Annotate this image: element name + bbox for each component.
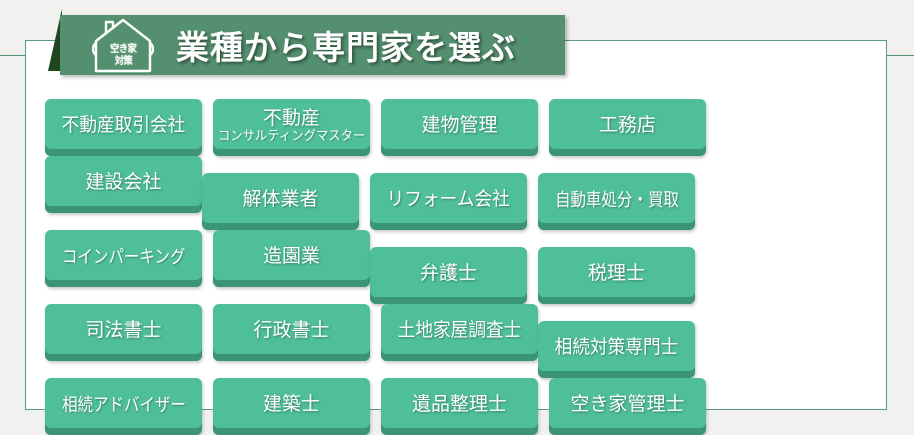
category-button-label: 建設会社 bbox=[85, 172, 161, 194]
category-button-label: 解体業者 bbox=[242, 189, 318, 211]
category-button-sublabel: コンサルティングマスター bbox=[218, 129, 365, 143]
category-button[interactable]: コインパーキング bbox=[45, 230, 202, 287]
category-button-label: 相続アドバイザー bbox=[62, 394, 186, 416]
category-button-label: 不動産 bbox=[263, 108, 320, 129]
category-button-label: 造園業 bbox=[263, 246, 320, 268]
category-button[interactable]: 相続対策専門士 bbox=[538, 321, 695, 378]
category-button[interactable]: 相続アドバイザー bbox=[45, 378, 202, 435]
category-button-label: 自動車処分・買取 bbox=[555, 189, 679, 211]
category-button[interactable]: 建物管理 bbox=[381, 99, 538, 156]
category-button-label: 空き家管理士 bbox=[570, 394, 684, 416]
category-button[interactable]: リフォーム会社 bbox=[370, 173, 527, 230]
category-button-label: 弁護士 bbox=[420, 263, 477, 285]
category-button[interactable]: 不動産コンサルティングマスター bbox=[213, 99, 370, 156]
category-button-label: リフォーム会社 bbox=[387, 189, 510, 211]
category-button-label: 土地家屋調査士 bbox=[398, 320, 522, 342]
category-button[interactable]: 建設会社 bbox=[45, 156, 202, 213]
category-button-label: 司法書士 bbox=[85, 320, 161, 342]
page-root: 空き家 対策 業種から専門家を選ぶ 不動産取引会社不動産コンサルティングマスター… bbox=[0, 0, 914, 430]
category-button[interactable]: 行政書士 bbox=[213, 304, 370, 361]
category-button-label: 建物管理 bbox=[421, 115, 497, 137]
category-button-label: コインパーキング bbox=[62, 246, 185, 268]
category-button-label: 相続対策専門士 bbox=[555, 337, 679, 359]
page-title: 業種から専門家を選ぶ bbox=[176, 21, 516, 69]
category-button[interactable]: 弁護士 bbox=[370, 247, 527, 304]
category-button-label: 税理士 bbox=[588, 263, 645, 285]
category-button[interactable]: 工務店 bbox=[549, 99, 706, 156]
category-button[interactable]: 土地家屋調査士 bbox=[381, 304, 538, 361]
category-button[interactable]: 税理士 bbox=[538, 247, 695, 304]
category-button[interactable]: 司法書士 bbox=[45, 304, 202, 361]
category-button[interactable]: 造園業 bbox=[213, 230, 370, 287]
category-button-label: 工務店 bbox=[599, 115, 656, 137]
category-grid: 不動産取引会社不動産コンサルティングマスター建物管理工務店建設会社解体業者リフォ… bbox=[45, 99, 870, 435]
section-banner: 空き家 対策 業種から専門家を選ぶ bbox=[60, 15, 565, 75]
category-button[interactable]: 空き家管理士 bbox=[549, 378, 706, 435]
house-akiya-icon: 空き家 対策 bbox=[92, 16, 154, 74]
category-button[interactable]: 自動車処分・買取 bbox=[538, 173, 695, 230]
category-row: 不動産取引会社不動産コンサルティングマスター建物管理工務店建設会社 bbox=[45, 99, 870, 173]
category-button-label: 遺品整理士 bbox=[412, 394, 507, 416]
category-button-label: 不動産取引会社 bbox=[62, 115, 186, 137]
category-button-label: 建築士 bbox=[263, 394, 320, 416]
category-button[interactable]: 遺品整理士 bbox=[381, 378, 538, 435]
category-button[interactable]: 解体業者 bbox=[202, 173, 359, 230]
category-button[interactable]: 建築士 bbox=[213, 378, 370, 435]
category-button[interactable]: 不動産取引会社 bbox=[45, 99, 202, 156]
category-button-label: 行政書士 bbox=[253, 320, 329, 342]
